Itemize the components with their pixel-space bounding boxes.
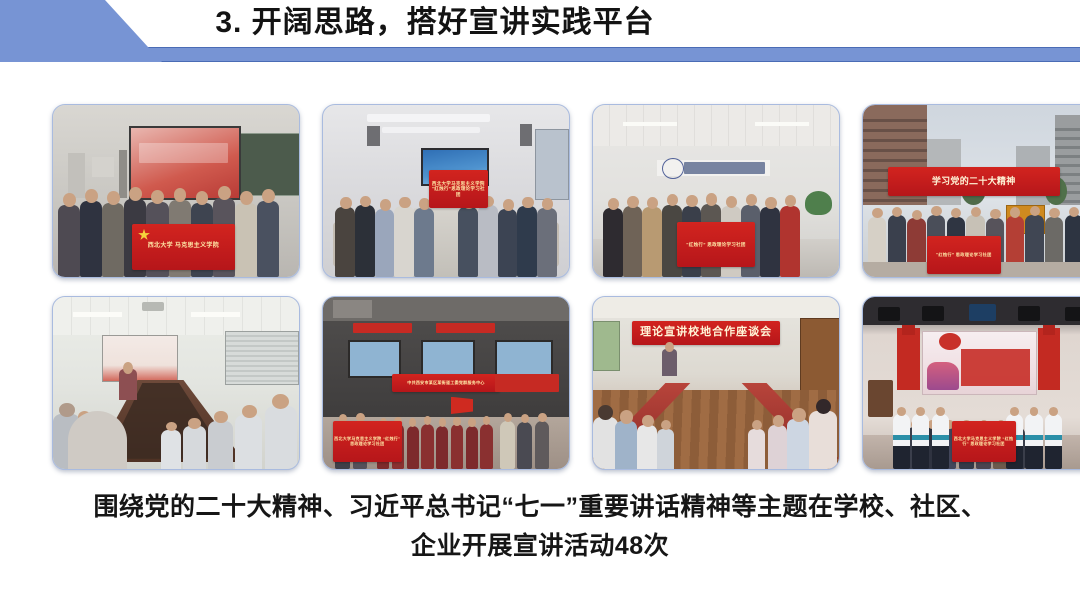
photo-image-company-meeting-room bbox=[53, 297, 299, 469]
slide-caption: 围绕党的二十大精神、习近平总书记“七一”重要讲话精神等主题在学校、社区、 企业开… bbox=[40, 488, 1040, 566]
photo-building-exterior-students[interactable]: 中共西安市某区某街道工委党群服务中心 西北 bbox=[322, 296, 570, 470]
slide-header: 3. 开阔思路，搭好宣讲实践平台 bbox=[0, 0, 1080, 64]
photo-symposium-meeting[interactable]: 理论宣讲校地合作座谈会 bbox=[592, 296, 840, 470]
building-sign-text: 中共西安市某区某街道工委党群服务中心 bbox=[392, 374, 500, 391]
photo-company-meeting-room[interactable] bbox=[52, 296, 300, 470]
caption-line-2: 企业开展宣讲活动48次 bbox=[40, 527, 1040, 566]
photo-auditorium-students[interactable]: 西北大学马克思主义学院 “红烛行” 思政理论学习社团 bbox=[862, 296, 1080, 470]
photo-outdoor-community-event[interactable]: 学习党的二十大精神 “红烛行” 思政理论学习社团 bbox=[862, 104, 1080, 278]
banner-text: 理论宣讲校地合作座谈会 bbox=[632, 321, 780, 345]
banner-text: 西北大学马克思主义学院 “红烛行” 思政理论学习社团 bbox=[333, 421, 402, 462]
page-title: 3. 开阔思路，搭好宣讲实践平台 bbox=[0, 0, 1080, 47]
photo-image-outdoor-community-event: 学习党的二十大精神 “红烛行” 思政理论学习社团 bbox=[863, 105, 1080, 277]
banner-text: 西北大学马克思主义学院 “红烛行” 思政理论学习社团 bbox=[952, 421, 1016, 462]
banner-text: “红烛行” 思政理论学习社团 bbox=[677, 222, 756, 267]
caption-line-1: 围绕党的二十大精神、习近平总书记“七一”重要讲话精神等主题在学校、社区、 bbox=[40, 488, 1040, 527]
photo-image-lobby-group: “红烛行” 思政理论学习社团 bbox=[593, 105, 839, 277]
photo-image-conference-room-group: 西北大学马克思主义学院“红烛行”思政理论学习社团 bbox=[323, 105, 569, 277]
photo-image-building-exterior-students: 中共西安市某区某街道工委党群服务中心 西北 bbox=[323, 297, 569, 469]
header-underline-bar bbox=[0, 47, 1080, 62]
photo-classroom-group[interactable]: 西北大学 马克思主义学院 bbox=[52, 104, 300, 278]
photo-image-classroom-group: 西北大学 马克思主义学院 bbox=[53, 105, 299, 277]
main-banner-text: 学习党的二十大精神 bbox=[888, 167, 1060, 196]
photo-lobby-group[interactable]: “红烛行” 思政理论学习社团 bbox=[592, 104, 840, 278]
sub-banner-text: “红烛行” 思政理论学习社团 bbox=[927, 236, 1001, 274]
banner-text: 西北大学马克思主义学院“红烛行”思政理论学习社团 bbox=[429, 170, 488, 208]
header-accent-wedge-tail bbox=[0, 47, 170, 62]
photo-image-auditorium-students: 西北大学马克思主义学院 “红烛行” 思政理论学习社团 bbox=[863, 297, 1080, 469]
photo-conference-room-group[interactable]: 西北大学马克思主义学院“红烛行”思政理论学习社团 bbox=[322, 104, 570, 278]
banner-text: 西北大学 马克思主义学院 bbox=[132, 224, 235, 270]
photo-gallery: 西北大学 马克思主义学院 bbox=[12, 88, 1068, 458]
photo-image-symposium-meeting: 理论宣讲校地合作座谈会 bbox=[593, 297, 839, 469]
